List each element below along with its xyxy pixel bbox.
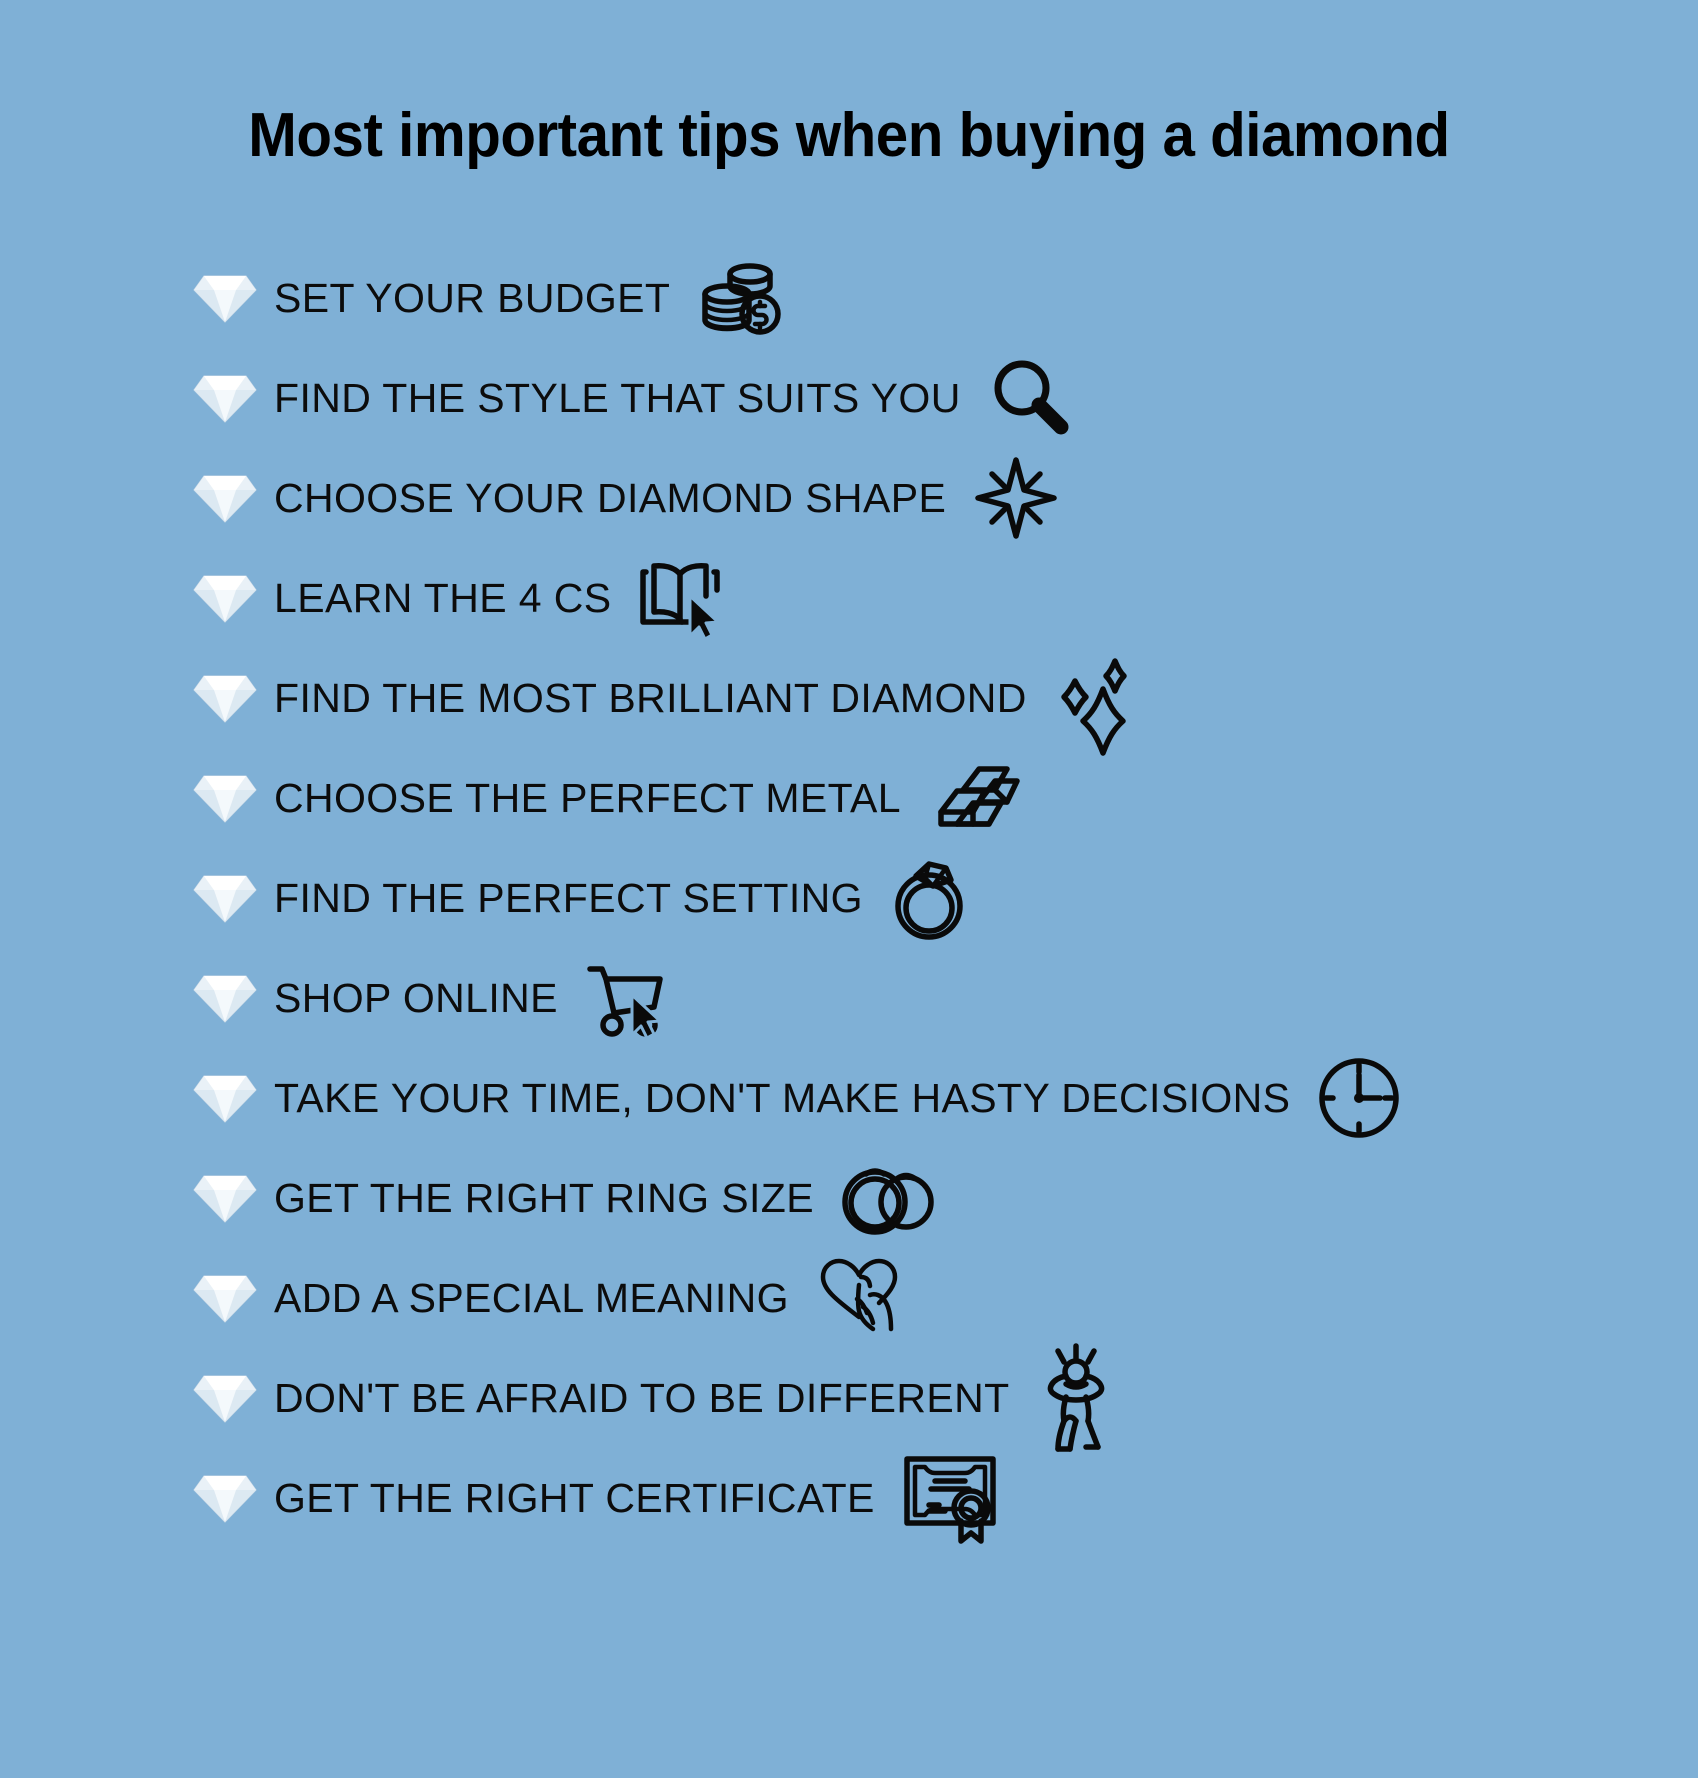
list-item-label: CHOOSE YOUR DIAMOND SHAPE xyxy=(274,478,946,519)
list-item-label: SET YOUR BUDGET xyxy=(274,278,670,319)
list-item-label: FIND THE MOST BRILLIANT DIAMOND xyxy=(274,678,1027,719)
diamond-gem-bullet-icon xyxy=(186,267,264,329)
list-item: ADD A SPECIAL MEANING xyxy=(186,1248,1636,1348)
hand-heart-icon xyxy=(815,1252,909,1344)
certificate-seal-icon xyxy=(901,1452,999,1544)
diamond-gem-bullet-icon xyxy=(186,1067,264,1129)
diamond-gem-bullet-icon xyxy=(186,967,264,1029)
list-item-label: FIND THE STYLE THAT SUITS YOU xyxy=(274,378,961,419)
diamond-gem-bullet-icon xyxy=(186,567,264,629)
three-diamonds-sparkle-icon xyxy=(1053,652,1145,744)
diamond-gem-bullet-icon xyxy=(186,467,264,529)
diamond-ring-icon xyxy=(889,852,973,944)
clock-icon xyxy=(1316,1052,1402,1144)
list-item: GET THE RIGHT RING SIZE xyxy=(186,1148,1636,1248)
diamond-gem-bullet-icon xyxy=(186,767,264,829)
diamond-gem-bullet-icon xyxy=(186,1167,264,1229)
list-item: TAKE YOUR TIME, DON'T MAKE HASTY DECISIO… xyxy=(186,1048,1636,1148)
list-item: CHOOSE YOUR DIAMOND SHAPE xyxy=(186,448,1636,548)
list-item-label: CHOOSE THE PERFECT METAL xyxy=(274,778,901,819)
infographic-poster: Most important tips when buying a diamon… xyxy=(0,0,1698,1778)
list-item-label: GET THE RIGHT RING SIZE xyxy=(274,1178,814,1219)
sparkle-star-icon xyxy=(972,452,1060,544)
diamond-gem-bullet-icon xyxy=(186,1367,264,1429)
list-item-label: ADD A SPECIAL MEANING xyxy=(274,1278,789,1319)
list-item: SET YOUR BUDGET xyxy=(186,248,1636,348)
list-item: FIND THE MOST BRILLIANT DIAMOND xyxy=(186,648,1636,748)
list-item-label: DON'T BE AFRAID TO BE DIFFERENT xyxy=(274,1378,1010,1419)
list-item: FIND THE PERFECT SETTING xyxy=(186,848,1636,948)
list-item-label: SHOP ONLINE xyxy=(274,978,558,1019)
list-item: FIND THE STYLE THAT SUITS YOU xyxy=(186,348,1636,448)
page-title: Most important tips when buying a diamon… xyxy=(51,100,1647,171)
money-coins-icon xyxy=(696,252,782,344)
list-item: DON'T BE AFRAID TO BE DIFFERENT xyxy=(186,1348,1636,1448)
diamond-gem-bullet-icon xyxy=(186,367,264,429)
shopping-cart-cursor-icon xyxy=(584,952,676,1044)
list-item: GET THE RIGHT CERTIFICATE xyxy=(186,1448,1636,1548)
list-item-label: TAKE YOUR TIME, DON'T MAKE HASTY DECISIO… xyxy=(274,1078,1290,1119)
two-rings-icon xyxy=(840,1152,940,1244)
list-item: CHOOSE THE PERFECT METAL xyxy=(186,748,1636,848)
diamond-gem-bullet-icon xyxy=(186,867,264,929)
magnifying-glass-icon xyxy=(987,352,1071,444)
standout-person-icon xyxy=(1036,1352,1116,1444)
list-item-label: FIND THE PERFECT SETTING xyxy=(274,878,863,919)
list-item: LEARN THE 4 CS xyxy=(186,548,1636,648)
list-item-label: LEARN THE 4 CS xyxy=(274,578,612,619)
list-item-label: GET THE RIGHT CERTIFICATE xyxy=(274,1478,875,1519)
diamond-gem-bullet-icon xyxy=(186,667,264,729)
open-book-cursor-icon xyxy=(638,552,726,644)
diamond-gem-bullet-icon xyxy=(186,1267,264,1329)
diamond-gem-bullet-icon xyxy=(186,1467,264,1529)
list-item: SHOP ONLINE xyxy=(186,948,1636,1048)
gold-bars-icon xyxy=(927,752,1021,844)
tips-list: SET YOUR BUDGET xyxy=(186,248,1636,1548)
